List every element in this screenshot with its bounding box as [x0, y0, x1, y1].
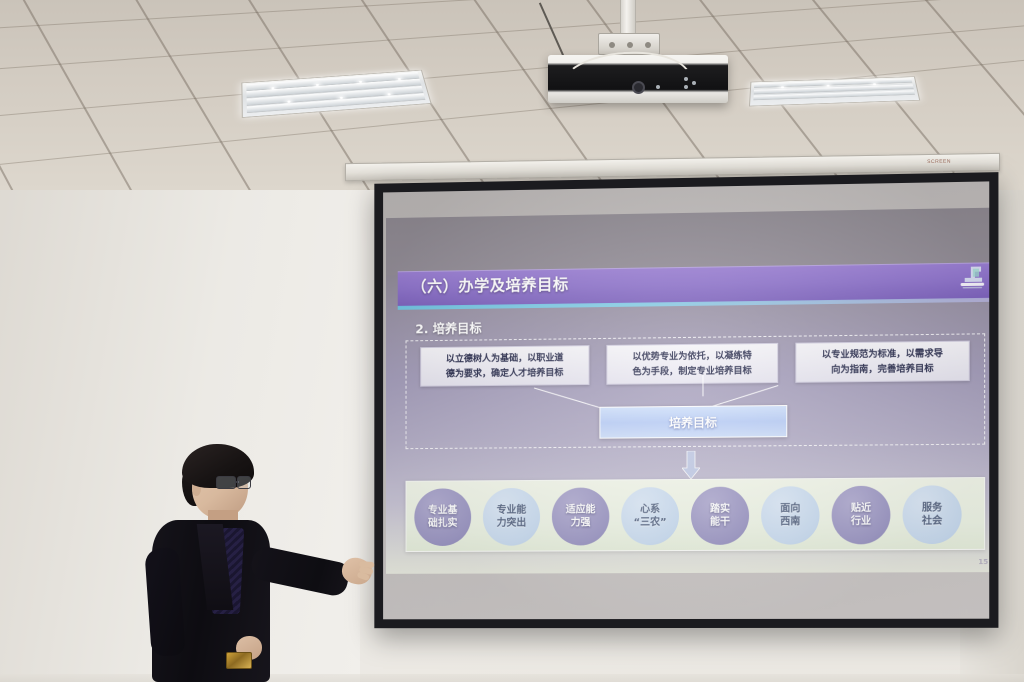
- outcome-circle-1: 专业基 础扎实: [414, 488, 471, 546]
- classroom-photo: SCREEN （六）办学及培养目标 2. 培养目标 以立德树人为基础，以职业道 …: [0, 0, 1024, 682]
- outcome-circle-4: 心系 “三农”: [621, 487, 679, 545]
- outcome-circle-8: 服务 社会: [903, 485, 962, 544]
- goal-container: 以立德树人为基础，以职业道 德为要求，确定人才培养目标 以优势专业为依托，以凝练…: [406, 333, 986, 449]
- slide-number: 15: [978, 558, 988, 566]
- ceiling-grid-line-h-2: [0, 0, 1024, 75]
- down-arrow-icon: [682, 451, 700, 479]
- goal-box-2: 以优势专业为依托，以凝练特 色为手段，制定专业培养目标: [606, 343, 778, 385]
- outcome-circle-7: 贴近 行业: [832, 486, 891, 545]
- outcome-circle-2: 专业能 力突出: [483, 488, 540, 546]
- eyeglasses-right-lens: [237, 476, 251, 489]
- roller-brand-label: SCREEN: [927, 159, 951, 165]
- ceiling-grid-line-d-9: [907, 0, 1024, 169]
- goal-box-3: 以专业规范为标准，以需求导 向为指南，完善培养目标: [795, 341, 969, 383]
- outcome-circle-3: 适应能 力强: [552, 487, 609, 545]
- projector-lens: [632, 81, 645, 94]
- slide-title: （六）办学及培养目标: [411, 273, 568, 297]
- outcome-circle-6: 面向 西南: [761, 486, 819, 545]
- connector-line-1: [534, 388, 606, 410]
- school-emblem-icon: [953, 260, 988, 295]
- presenter: [70, 440, 320, 682]
- belt-buckle: [226, 652, 252, 669]
- presentation-slide: （六）办学及培养目标 2. 培养目标 以立德树人为基础，以职业道 德为要求，确定…: [386, 207, 989, 573]
- projection-screen: （六）办学及培养目标 2. 培养目标 以立德树人为基础，以职业道 德为要求，确定…: [374, 172, 998, 628]
- screen-surface: （六）办学及培养目标 2. 培养目标 以立德树人为基础，以职业道 德为要求，确定…: [383, 181, 989, 619]
- center-node-培养目标: 培养目标: [599, 405, 787, 439]
- outcomes-band: 专业基 础扎实专业能 力突出适应能 力强心系 “三农”踏实 能干面向 西南贴近 …: [406, 477, 986, 552]
- slide-subheading: 2. 培养目标: [415, 318, 481, 338]
- goal-box-1: 以立德树人为基础，以职业道 德为要求，确定人才培养目标: [420, 345, 589, 387]
- outcome-circle-5: 踏实 能干: [691, 487, 749, 545]
- eyeglasses-left-lens: [216, 476, 236, 489]
- connector-line-2: [702, 374, 703, 396]
